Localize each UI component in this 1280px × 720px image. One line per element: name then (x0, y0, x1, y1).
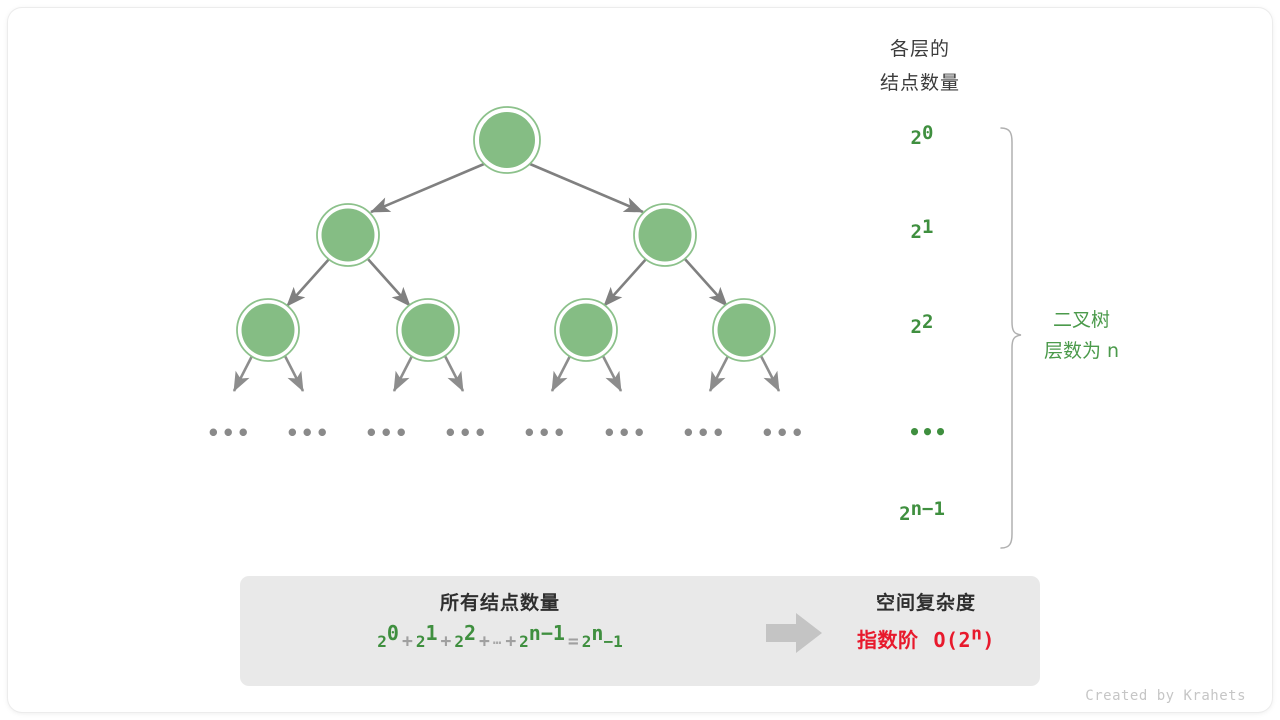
leaf-ellipsis: ••• (286, 421, 331, 445)
level-count-1-sup: 1 (922, 216, 933, 238)
level-count-ellipsis: ••• (908, 420, 947, 444)
tree-edges (234, 164, 779, 391)
level-count-last: 2n−1 (899, 503, 945, 525)
leaf-ellipsis: ••• (761, 421, 806, 445)
level-count-0: 20 (911, 127, 934, 149)
column-header-line1: 各层的 (842, 32, 998, 66)
formula-equals: = (565, 631, 582, 652)
leaf-ellipsis: ••• (682, 421, 727, 445)
formula-plus-3: + (476, 631, 493, 652)
formula-term-1-sup: 0 (387, 621, 399, 645)
leaf-ellipsis: ••• (207, 421, 252, 445)
formula-term-2-base: 2 (416, 632, 426, 651)
complexity-close-paren: ) (982, 628, 995, 652)
formula-result-tail: −1 (603, 632, 622, 651)
level-count-2-base: 2 (911, 316, 922, 338)
level-range-brace (1001, 128, 1021, 548)
leaf-ellipsis: ••• (523, 421, 568, 445)
formula-term-1-base: 2 (377, 632, 387, 651)
space-complexity-title: 空间复杂度 (822, 586, 1030, 620)
formula-ellipsis: … (493, 632, 502, 648)
tree-node-root (474, 107, 540, 173)
formula-term-2-sup: 1 (425, 621, 437, 645)
summary-panel-right: 空间复杂度 指数阶 O(2n) (822, 586, 1030, 653)
total-nodes-title: 所有结点数量 (250, 586, 750, 620)
level-count-last-base: 2 (899, 503, 910, 525)
space-complexity-value: 指数阶 O(2n) (822, 627, 1030, 653)
leaf-ellipsis: ••• (603, 421, 648, 445)
leaf-ellipsis: ••• (444, 421, 489, 445)
formula-plus-4: + (502, 631, 519, 652)
formula-result-sup: n (591, 621, 603, 645)
tree-node (713, 299, 775, 361)
tree-node (317, 204, 379, 266)
complexity-order-label: 指数阶 (857, 628, 919, 652)
formula-plus-1: + (399, 631, 416, 652)
formula-term-4-sup: n−1 (529, 621, 565, 645)
credit-text: Created by Krahets (1085, 688, 1246, 704)
level-count-1-base: 2 (911, 221, 922, 243)
formula-plus-2: + (438, 631, 455, 652)
tree-nodes (237, 107, 775, 361)
column-header: 各层的 结点数量 (842, 32, 998, 100)
brace-label-line1: 二叉树 (1044, 305, 1119, 336)
level-count-2: 22 (911, 316, 934, 338)
figure-canvas: 各层的 结点数量 20 21 22 ••• 2n−1 二叉树 层数为 n •••… (0, 0, 1280, 720)
complexity-big-o: O(2 (933, 628, 971, 652)
formula-term-4-base: 2 (519, 632, 529, 651)
total-nodes-formula: 20+21+22+…+2n−1=2n−1 (250, 627, 750, 656)
leaf-ellipsis: ••• (365, 421, 410, 445)
formula-term-3-sup: 2 (464, 621, 476, 645)
formula-term-3-base: 2 (454, 632, 464, 651)
formula-result-base: 2 (582, 632, 592, 651)
tree-node (555, 299, 617, 361)
level-count-0-base: 2 (911, 127, 922, 149)
tree-node (397, 299, 459, 361)
complexity-exponent: n (971, 623, 982, 644)
brace-label-line2: 层数为 n (1044, 336, 1119, 367)
level-count-2-sup: 2 (922, 311, 933, 333)
brace-label: 二叉树 层数为 n (1044, 305, 1119, 367)
tree-node (634, 204, 696, 266)
column-header-line2: 结点数量 (842, 66, 998, 100)
summary-panel-left: 所有结点数量 20+21+22+…+2n−1=2n−1 (250, 586, 750, 656)
panel-arrow-icon (766, 612, 824, 654)
level-count-last-sup: n−1 (911, 498, 945, 520)
level-count-0-sup: 0 (922, 122, 933, 144)
tree-node (237, 299, 299, 361)
level-count-1: 21 (911, 221, 934, 243)
